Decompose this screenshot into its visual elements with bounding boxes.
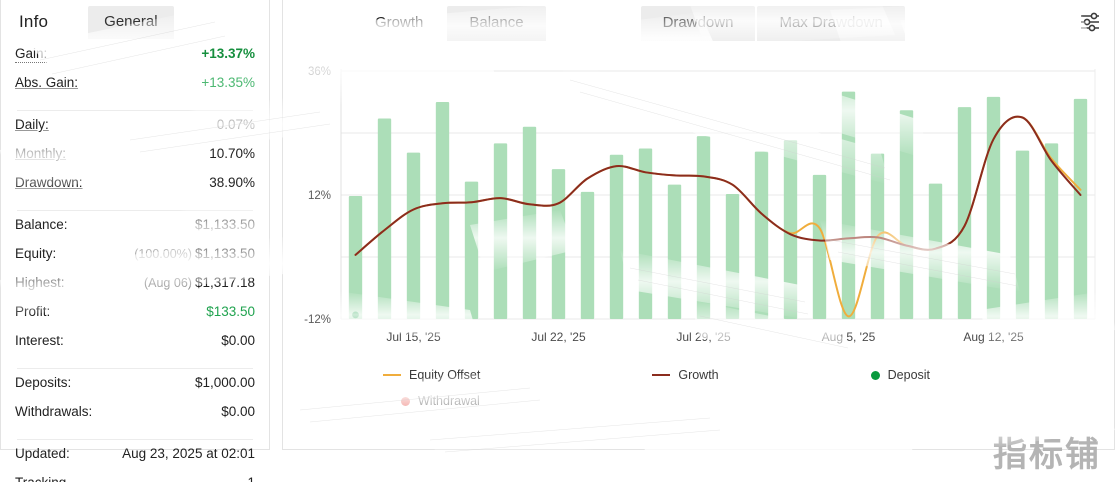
- chart-legend: Equity Offset Growth Deposit Withdrawal: [383, 368, 1083, 408]
- info-row-value: $133.50: [206, 304, 255, 319]
- info-row: Monthly:10.70%: [15, 146, 255, 175]
- tab-drawdown[interactable]: Drawdown: [641, 6, 756, 41]
- chart-bar[interactable]: [697, 136, 710, 319]
- chart-bar[interactable]: [581, 192, 594, 319]
- bar-series: [349, 92, 1087, 319]
- info-row-value: 38.90%: [209, 175, 255, 190]
- chart-bar[interactable]: [552, 169, 565, 319]
- chart-bar[interactable]: [610, 155, 623, 319]
- legend-item-equity-offset[interactable]: Equity Offset: [383, 368, 480, 382]
- legend-label-growth: Growth: [678, 368, 718, 382]
- x-axis-tick-label: Aug 12, '25: [963, 330, 1024, 344]
- tab-max-drawdown[interactable]: Max Drawdown: [757, 6, 904, 41]
- info-row-note: (100.00%): [134, 247, 192, 261]
- legend-label-deposit: Deposit: [888, 368, 930, 382]
- info-row-label[interactable]: Drawdown:: [15, 175, 83, 190]
- info-row-value: $1,317.18: [195, 275, 255, 290]
- info-row-value-group: 38.90%: [209, 175, 255, 190]
- info-row: Abs. Gain:+13.35%: [15, 75, 255, 104]
- chart-bar[interactable]: [1074, 99, 1087, 319]
- info-row-value-group: 10.70%: [209, 146, 255, 161]
- y-axis-tick-label: 12%: [308, 190, 331, 202]
- info-row-value: +13.35%: [201, 75, 255, 90]
- chart-bar[interactable]: [639, 149, 652, 320]
- info-row-label[interactable]: Monthly:: [15, 146, 66, 161]
- info-row-value: 1: [247, 475, 255, 482]
- x-axis-tick-labels: Jul 15, '25Jul 22, '25Jul 29, '25Aug 5, …: [386, 330, 1024, 344]
- info-row: Tracking1: [15, 475, 255, 482]
- x-axis-tick-label: Aug 5, '25: [822, 330, 876, 344]
- chart-bar[interactable]: [813, 175, 826, 319]
- sidebar-divider: [17, 110, 253, 111]
- info-row-value-group: Aug 23, 2025 at 02:01: [122, 446, 255, 461]
- withdrawal-dot-swatch: [401, 397, 410, 406]
- legend-item-withdrawal[interactable]: Withdrawal: [401, 394, 480, 408]
- info-row-value-group: $1,000.00: [195, 375, 255, 390]
- info-row: Daily:0.07%: [15, 117, 255, 146]
- info-row: Interest:$0.00: [15, 333, 255, 362]
- sidebar-divider: [17, 368, 253, 369]
- info-row-label: Interest:: [15, 333, 64, 348]
- info-row: Withdrawals:$0.00: [15, 404, 255, 433]
- info-row: Highest:(Aug 06)$1,317.18: [15, 275, 255, 304]
- chart-bar[interactable]: [929, 184, 942, 319]
- info-row-label: Updated:: [15, 446, 70, 461]
- sliders-icon[interactable]: [1078, 11, 1102, 33]
- info-row: Equity:(100.00%)$1,133.50: [15, 246, 255, 275]
- watermark: 指标铺: [993, 427, 1101, 476]
- info-rows: Gain:+13.37%Abs. Gain:+13.35%Daily:0.07%…: [1, 46, 269, 482]
- info-row-value-group: $0.00: [221, 333, 255, 348]
- deposit-marker[interactable]: [352, 311, 359, 318]
- info-row-value-group: +13.35%: [201, 75, 255, 90]
- info-row-value-group: $0.00: [221, 404, 255, 419]
- info-row: Gain:+13.37%: [15, 46, 255, 75]
- info-row-value: +13.37%: [201, 46, 255, 61]
- info-row-value: 0.07%: [217, 117, 255, 132]
- info-row-value: 10.70%: [209, 146, 255, 161]
- y-axis-tick-label: -12%: [304, 314, 331, 326]
- chart-bar[interactable]: [900, 110, 913, 319]
- chart-bar[interactable]: [1016, 151, 1029, 319]
- info-row-value-group: $133.50: [206, 304, 255, 319]
- info-row-value-group: (Aug 06)$1,317.18: [144, 275, 255, 290]
- info-row-label: Withdrawals:: [15, 404, 92, 419]
- legend-label-equity-offset: Equity Offset: [409, 368, 480, 382]
- info-row-label[interactable]: Daily:: [15, 117, 49, 132]
- chart-panel: Growth Balance Drawdown Max Drawdown 36: [282, 0, 1115, 450]
- chart-bar[interactable]: [726, 194, 739, 319]
- chart-bar[interactable]: [378, 119, 391, 319]
- info-row-value-group: +13.37%: [201, 46, 255, 61]
- info-row-value-group: $1,133.50: [195, 217, 255, 232]
- chart-bar[interactable]: [349, 196, 362, 319]
- info-row: Updated:Aug 23, 2025 at 02:01: [15, 446, 255, 475]
- info-row-note: (Aug 06): [144, 276, 192, 290]
- chart-bar[interactable]: [494, 143, 507, 319]
- chart-tabs: Growth Balance Drawdown Max Drawdown: [283, 0, 1114, 46]
- info-row-label: Highest:: [15, 275, 65, 290]
- page-title: Info: [1, 0, 48, 32]
- info-row-value-group: (100.00%)$1,133.50: [134, 246, 255, 261]
- growth-line: [356, 117, 1081, 255]
- info-row: Deposits:$1,000.00: [15, 375, 255, 404]
- equity-offset-line: [356, 117, 1081, 317]
- equity-line-swatch: [383, 374, 401, 376]
- info-row-value: $0.00: [221, 404, 255, 419]
- info-row-label[interactable]: Gain:: [15, 47, 47, 63]
- info-row-label[interactable]: Abs. Gain:: [15, 75, 78, 90]
- info-row-value: $0.00: [221, 333, 255, 348]
- info-row-label: Profit:: [15, 304, 50, 319]
- info-row-label: Tracking: [15, 475, 66, 482]
- growth-chart: 36%12%-12%Jul 15, '25Jul 22, '25Jul 29, …: [283, 46, 1115, 446]
- sidebar-header: Info General: [1, 0, 269, 46]
- info-sidebar: Info General Gain:+13.37%Abs. Gain:+13.3…: [0, 0, 270, 450]
- chart-bar[interactable]: [755, 152, 768, 319]
- info-row-value: $1,133.50: [195, 217, 255, 232]
- growth-line-swatch: [652, 374, 670, 376]
- chart-bar[interactable]: [668, 185, 681, 319]
- legend-item-deposit[interactable]: Deposit: [871, 368, 930, 382]
- legend-label-withdrawal: Withdrawal: [418, 394, 480, 408]
- tab-growth[interactable]: Growth: [353, 6, 445, 41]
- info-row-label: Deposits:: [15, 375, 71, 390]
- tab-balance[interactable]: Balance: [447, 6, 545, 41]
- legend-item-growth[interactable]: Growth: [652, 368, 718, 382]
- info-row-value: $1,133.50: [195, 246, 255, 261]
- info-row: Profit:$133.50: [15, 304, 255, 333]
- info-row-value-group: 1: [247, 475, 255, 482]
- chart-bar[interactable]: [1045, 143, 1058, 319]
- account-dashboard: Info General Gain:+13.37%Abs. Gain:+13.3…: [0, 0, 1115, 482]
- chart-bar[interactable]: [436, 102, 449, 319]
- info-row-value: Aug 23, 2025 at 02:01: [122, 446, 255, 461]
- info-row-label: Balance:: [15, 217, 68, 232]
- chart-bar[interactable]: [407, 153, 420, 319]
- sidebar-divider: [17, 439, 253, 440]
- x-axis-tick-label: Jul 29, '25: [676, 330, 731, 344]
- chart-bar[interactable]: [784, 140, 797, 319]
- info-row: Balance:$1,133.50: [15, 217, 255, 246]
- x-axis-tick-label: Jul 15, '25: [386, 330, 441, 344]
- deposit-dot-swatch: [871, 371, 880, 380]
- info-row: Drawdown:38.90%: [15, 175, 255, 204]
- sidebar-divider: [17, 210, 253, 211]
- x-axis-tick-label: Jul 22, '25: [531, 330, 586, 344]
- y-axis-tick-label: 36%: [308, 66, 331, 78]
- info-row-label: Equity:: [15, 246, 56, 261]
- info-row-value: $1,000.00: [195, 375, 255, 390]
- chart-bar[interactable]: [523, 127, 536, 319]
- tab-general[interactable]: General: [88, 6, 173, 39]
- chart-bar[interactable]: [842, 92, 855, 319]
- info-row-value-group: 0.07%: [217, 117, 255, 132]
